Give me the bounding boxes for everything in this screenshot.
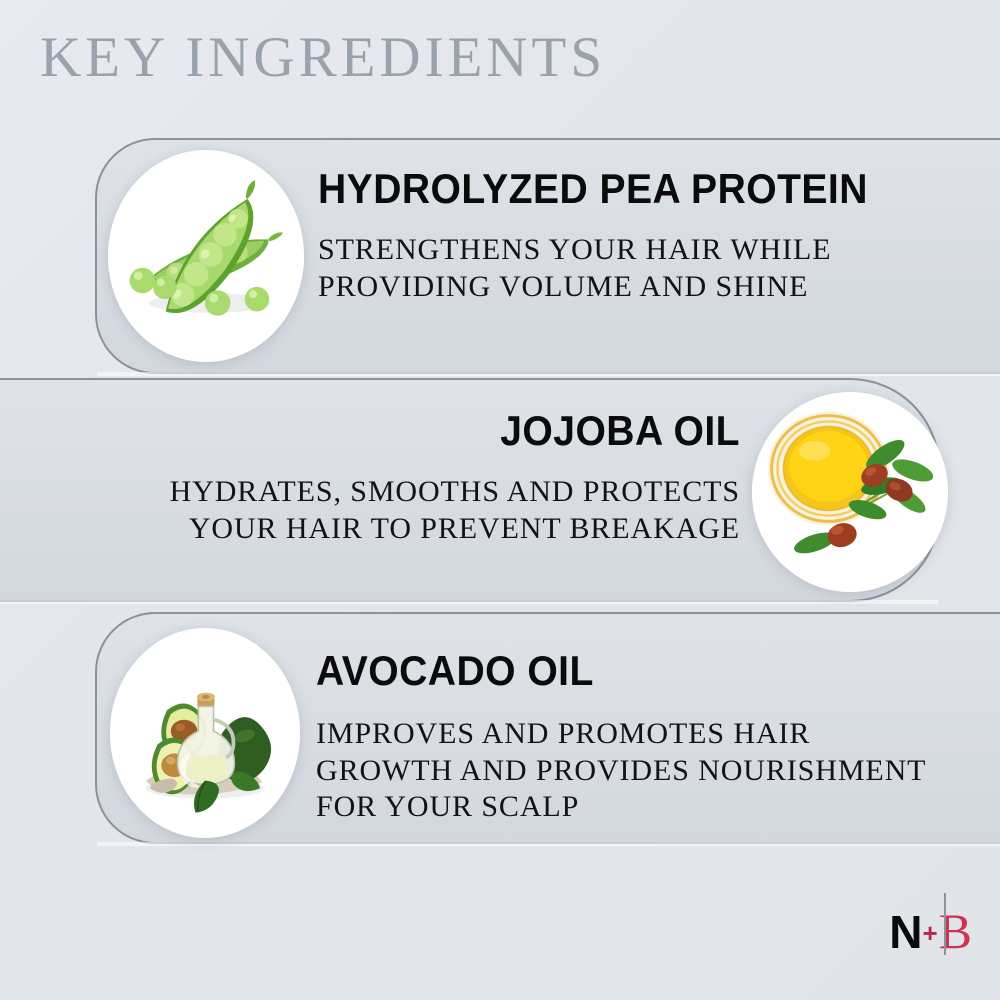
ingredient-name-1: HYDROLYZED PEA PROTEIN: [318, 168, 913, 210]
ingredient-name-2: JOJOBA OIL: [108, 410, 740, 452]
logo-vertical-rule: [944, 893, 946, 955]
ingredient-text-2: JOJOBA OIL HYDRATES, SMOOTHS AND PROTECT…: [60, 410, 740, 547]
ingredient-name-3: AVOCADO OIL: [316, 650, 919, 692]
pea-pods-photo: [108, 150, 304, 362]
avocado-oil-photo: [110, 628, 300, 838]
logo-letter-b-wrap: B: [939, 906, 972, 956]
ingredient-description-2-line-2: YOUR HAIR TO PREVENT BREAKAGE: [60, 511, 740, 548]
avocado-oil-illustration: [110, 628, 300, 838]
jojoba-oil-bowl-photo: [752, 392, 948, 592]
ingredient-description-3: IMPROVES AND PROMOTES HAIR GROWTH AND PR…: [316, 716, 964, 826]
logo-plus-icon: +: [922, 920, 937, 946]
ingredient-description-3-line-2: GROWTH AND PROVIDES NOURISHMENT: [316, 753, 964, 790]
ingredient-description-1-line-2: PROVIDING VOLUME AND SHINE: [318, 269, 958, 306]
page-title: KEY INGREDIENTS: [40, 25, 606, 90]
brand-logo: N + B: [889, 906, 972, 962]
ingredient-description-3-line-1: IMPROVES AND PROMOTES HAIR: [316, 716, 964, 753]
ingredient-description-2-line-1: HYDRATES, SMOOTHS AND PROTECTS: [60, 474, 740, 511]
ingredient-description-1-line-1: STRENGTHENS YOUR HAIR WHILE: [318, 232, 958, 269]
jojoba-oil-illustration: [752, 392, 948, 592]
logo-letter-n: N: [889, 909, 921, 955]
ingredient-text-3: AVOCADO OIL IMPROVES AND PROMOTES HAIR G…: [316, 650, 964, 826]
pea-pods-illustration: [108, 150, 304, 362]
ingredient-description-1: STRENGTHENS YOUR HAIR WHILE PROVIDING VO…: [318, 232, 958, 305]
key-ingredients-infographic: KEY INGREDIENTS: [0, 0, 1000, 1000]
ingredient-description-3-line-3: FOR YOUR SCALP: [316, 789, 964, 826]
ingredient-description-2: HYDRATES, SMOOTHS AND PROTECTS YOUR HAIR…: [60, 474, 740, 547]
ingredient-text-1: HYDROLYZED PEA PROTEIN STRENGTHENS YOUR …: [318, 168, 958, 305]
